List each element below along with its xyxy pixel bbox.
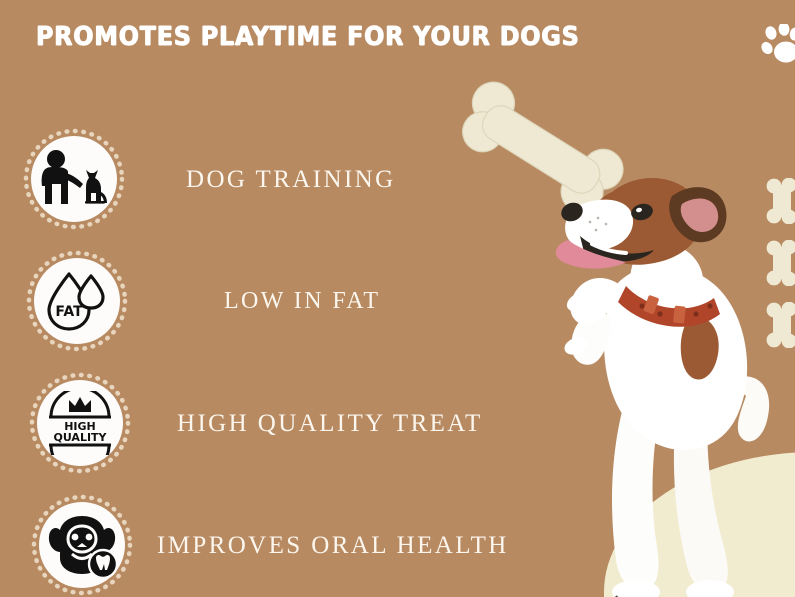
bone-icon (765, 178, 795, 224)
fat-icon-caption: FAT (55, 304, 83, 320)
feature-list: DOG TRAINING FAT LOW IN FAT (0, 118, 560, 597)
high-quality-line2: QUALITY (53, 431, 107, 444)
dog-dental-icon (30, 493, 134, 597)
bone-icon (765, 240, 795, 286)
paw-print-icon (759, 24, 795, 73)
feature-item-low-in-fat[interactable]: FAT LOW IN FAT (0, 240, 560, 362)
feature-item-dog-training[interactable]: DOG TRAINING (0, 118, 560, 240)
high-quality-crown-icon: HIGH QUALITY (28, 371, 132, 475)
page-title: PROMOTES PLAYTIME FOR YOUR DOGS (36, 25, 580, 51)
mini-bone-decorations (765, 178, 795, 348)
dog-training-icon (22, 127, 126, 231)
bone-icon (765, 302, 795, 348)
feature-label: DOG TRAINING (186, 167, 396, 192)
promo-banner: PROMOTES PLAYTIME FOR YOUR DOGS (0, 0, 795, 597)
fat-droplet-icon: FAT (25, 249, 129, 353)
feature-label: HIGH QUALITY TREAT (177, 411, 483, 436)
feature-item-improves-oral-health[interactable]: IMPROVES ORAL HEALTH (0, 484, 560, 597)
feature-label: IMPROVES ORAL HEALTH (157, 533, 509, 558)
jack-russell-terrier-photo (550, 140, 795, 597)
feature-label: LOW IN FAT (224, 289, 380, 313)
feature-item-high-quality-treat[interactable]: HIGH QUALITY HIGH QUALITY TREAT (0, 362, 560, 484)
